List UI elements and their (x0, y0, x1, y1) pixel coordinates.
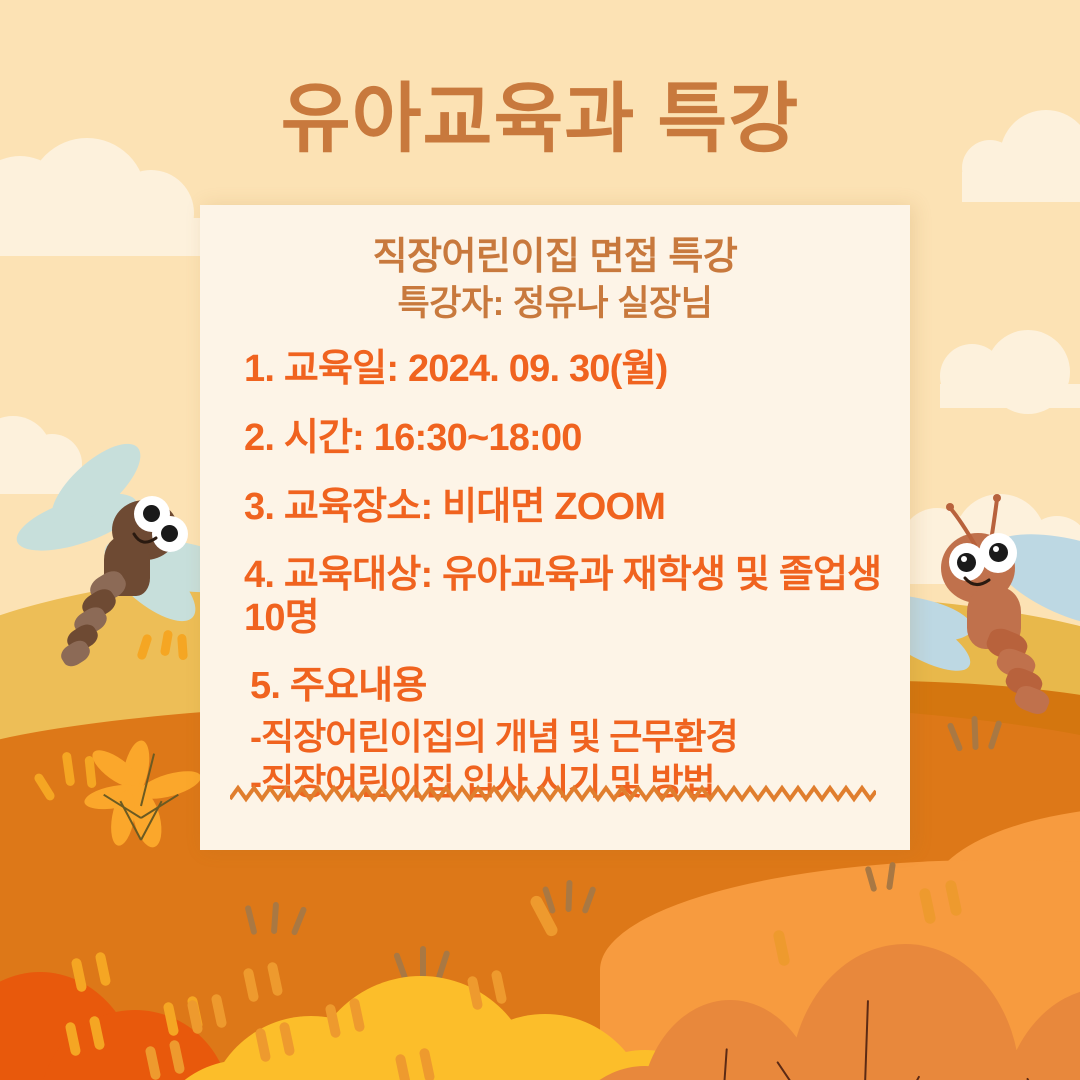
detail-list: 1. 교육일: 2024. 09. 30(월) 2. 시간: 16:30~18:… (200, 326, 910, 707)
cloud-icon (940, 384, 1080, 408)
cloud-icon (962, 172, 1080, 202)
list-item: -직장어린이집의 개념 및 근무환경 (250, 714, 910, 759)
info-card: 직장어린이집 면접 특강 특강자: 정유나 실장님 1. 교육일: 2024. … (200, 205, 910, 850)
card-speaker: 특강자: 정유나 실장님 (200, 282, 910, 327)
cloud-icon (0, 218, 210, 256)
card-headline: 직장어린이집 면접 특강 (200, 233, 910, 282)
page-title: 유아교육과 특강 (0, 78, 1080, 162)
card-headline-block: 직장어린이집 면접 특강 특강자: 정유나 실장님 (200, 205, 910, 326)
section-5-heading: 5. 주요내용 (244, 665, 884, 708)
list-item: 4. 교육대상: 유아교육과 재학생 및 졸업생 10명 (244, 554, 884, 639)
list-item: 1. 교육일: 2024. 09. 30(월) (244, 348, 884, 391)
list-item: 2. 시간: 16:30~18:00 (244, 417, 884, 460)
zigzag-divider-icon (230, 783, 876, 805)
maple-leaf-icon (78, 738, 208, 848)
list-item: 3. 교육장소: 비대면 ZOOM (244, 486, 884, 529)
poster-canvas: 유아교육과 특강 직장어린이집 면접 특강 특강자: 정유나 실장님 1. 교육… (0, 0, 1080, 1080)
dragonfly-icon (905, 495, 1080, 705)
